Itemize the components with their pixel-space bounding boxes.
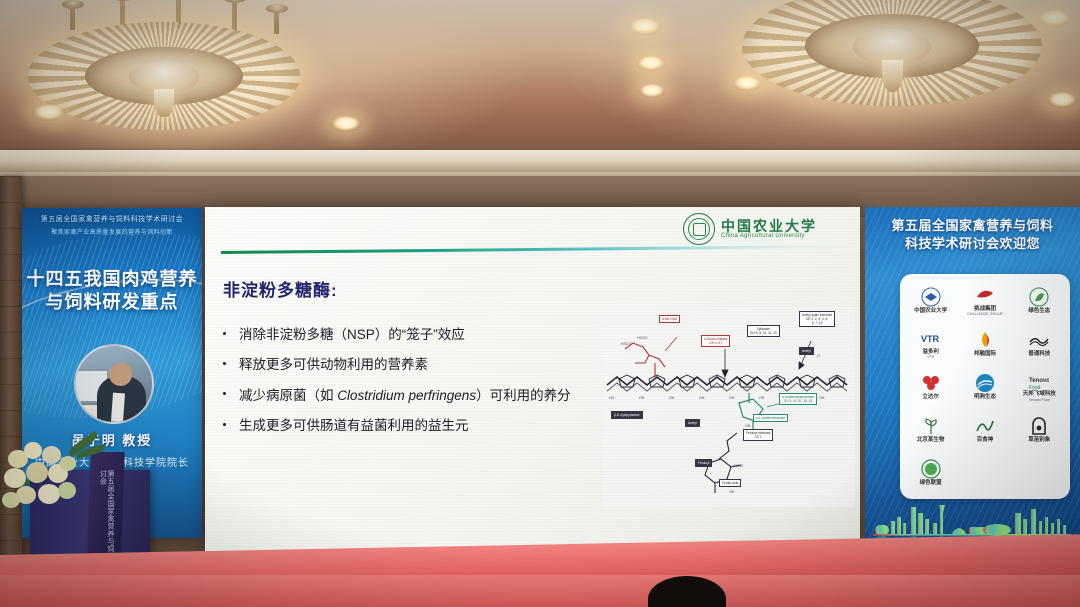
svg-text:VTR: VTR — [921, 334, 940, 344]
eagle-seal-icon — [921, 287, 941, 307]
red-clover-icon — [921, 373, 941, 393]
vtr-icon: VTR — [921, 328, 941, 348]
left-banner-title: 十四五我国肉鸡营养 与饲料研发重点 — [22, 268, 202, 314]
sponsor-name-cn: 普通科技 — [1028, 351, 1050, 357]
sponsor-name-cn: 明驹生态 — [974, 394, 996, 400]
downlight — [638, 84, 666, 98]
sponsor-name-cn: 绿色联盟 — [920, 480, 942, 486]
svg-text:HO: HO — [609, 396, 615, 400]
downlight — [628, 18, 662, 35]
svg-text:OH: OH — [639, 396, 645, 400]
svg-text:OH: OH — [669, 396, 675, 400]
sponsor-logo: 普通科技 — [1014, 324, 1064, 364]
tenovo-icon: TenovoFood — [1029, 370, 1049, 390]
wave-icon — [1029, 330, 1049, 350]
downlight — [32, 104, 66, 121]
svg-text:OH: OH — [819, 396, 825, 400]
sponsor-name-cn: 溢多利 — [922, 349, 939, 355]
downlight — [1046, 92, 1078, 108]
right-banner-title: 第五届全国家禽营养与饲料 科技学术研讨会欢迎您 — [865, 217, 1080, 252]
sponsor-logo-grid: 中国农业大学挑战集团CHALLENGE GROUP绿色生态VTR溢多利VTR邦融… — [900, 274, 1070, 499]
sponsor-name-cn: 草苗别象 — [1028, 437, 1050, 443]
sponsor-logo: VTR溢多利VTR — [906, 324, 956, 364]
sponsor-logo: 绿色联盟 — [906, 452, 956, 492]
svg-text:Tenovo: Tenovo — [1029, 378, 1049, 384]
diagram-label: Acetyl — [685, 419, 700, 427]
left-banner-title-line-1: 十四五我国肉鸡营养 — [22, 268, 202, 291]
bullet-dot — [223, 332, 226, 335]
svg-text:OH: OH — [729, 490, 735, 494]
right-banner-title-line-1: 第五届全国家禽营养与饲料 — [865, 217, 1080, 235]
sponsor-logo: 北京某生物 — [906, 409, 956, 449]
sponsor-name-cn: 绿色生态 — [1028, 308, 1050, 314]
diagram-label: Feruloyl — [695, 459, 712, 467]
sponsor-name-cn: 百食神 — [977, 437, 994, 443]
droplet-icon — [975, 330, 995, 350]
sponsor-name-en: VTR — [927, 356, 934, 360]
slide-bullet-list: 消除非淀粉多糖（NSP）的“笼子”效应释放更多可供动物利用的营养素减少病原菌（如… — [219, 322, 599, 443]
sponsor-logo: 立达尔 — [906, 366, 956, 406]
sponsor-logo: 明驹生态 — [960, 366, 1010, 406]
slide-bullet: 减少病原菌（如 Clostridium perfringens）可利用的养分 — [219, 383, 599, 409]
sponsor-logo: 百食神 — [960, 409, 1010, 449]
bullet-dot — [223, 362, 226, 365]
university-seal-icon — [683, 213, 715, 245]
slide-bullet: 释放更多可供动物利用的营养素 — [219, 352, 599, 378]
sprout-icon — [921, 416, 941, 436]
downlight — [636, 56, 666, 71]
diagram-label: α-ArabinofuranosidaseGH 3, 43, 51, 54, 6… — [779, 393, 817, 405]
svg-text:HOOC: HOOC — [637, 336, 648, 340]
glucuronoarabinoxylan-diagram: HOOH OHOH OHOH OHOH H3COHOOC OHOH OCH3O … — [603, 307, 855, 507]
left-banner-title-line-2: 与饲料研发重点 — [22, 291, 202, 314]
slide-divider — [221, 245, 849, 254]
sponsor-name-cn: 天邦飞域科技 — [1023, 391, 1056, 397]
sponsor-logo: 绿色生态 — [1014, 281, 1064, 321]
challenge-icon — [975, 285, 995, 305]
sponsor-logo: 邦融国际 — [960, 324, 1010, 364]
bullet-dot — [223, 423, 226, 426]
slide-title: 非淀粉多糖酶: — [223, 276, 338, 301]
university-name-en: China Agricultural University — [721, 233, 817, 239]
sponsor-name-cn: 邦融国际 — [974, 351, 996, 357]
left-banner-subhead-2: 聚焦家禽产业高质量发展的营养与饲料创新 — [22, 227, 202, 236]
sponsor-name-cn: 北京某生物 — [917, 437, 945, 443]
leaf-seal-icon — [1029, 287, 1049, 307]
conference-hall-photo: 第五届全国家禽营养与饲料科技学术研讨会 聚焦家禽产业高质量发展的营养与饲料创新 … — [0, 0, 1080, 607]
downlight — [330, 116, 362, 132]
sponsor-logo: 挑战集团CHALLENGE GROUP — [960, 281, 1010, 321]
university-logo: 中国农业大学 China Agricultural University — [683, 211, 855, 247]
left-banner-subhead-1: 第五届全国家禽营养与饲料科技学术研讨会 — [22, 214, 202, 224]
svg-text:O: O — [817, 354, 820, 358]
diagram-label: Ferulic acid — [719, 479, 741, 487]
bullet-dot — [223, 392, 226, 395]
university-name-cn: 中国农业大学 — [721, 219, 817, 234]
flower-arrangement — [2, 438, 114, 520]
svg-text:OH: OH — [699, 396, 705, 400]
sponsor-name-cn: 中国农业大学 — [914, 308, 947, 314]
svg-text:OCH3: OCH3 — [733, 464, 743, 468]
chandelier-right — [742, 0, 1042, 106]
svg-text:OH: OH — [759, 396, 765, 400]
sponsor-name-en: CHALLENGE GROUP — [967, 313, 1003, 317]
sponsor-logo: 草苗别象 — [1014, 409, 1064, 449]
slide-bullet: 生成更多可供肠道有益菌利用的益生元 — [219, 413, 599, 439]
right-banner-title-line-2: 科技学术研讨会欢迎您 — [865, 235, 1080, 253]
slide-bullet: 消除非淀粉多糖（NSP）的“笼子”效应 — [219, 322, 599, 348]
svg-text:OH: OH — [745, 424, 751, 428]
chandelier-left — [28, 22, 300, 130]
diagram-label: α-GlucuronidaseGH 4, 67 — [701, 335, 730, 347]
downlight — [1036, 10, 1072, 27]
red-carpet-lower — [0, 575, 1080, 607]
sponsor-name-en: Tenovo Food — [1029, 399, 1050, 403]
wood-column — [0, 176, 22, 607]
right-banner: 第五届全国家禽营养与饲料 科技学术研讨会欢迎您 中国农业大学挑战集团CHALLE… — [865, 207, 1080, 587]
diagram-label: Feruloyl esteraseCE 1 — [743, 429, 773, 441]
speaker-portrait — [74, 344, 154, 424]
brush-icon — [975, 416, 995, 436]
sponsor-name-cn: 立达尔 — [922, 394, 939, 400]
diagram-label: α-Me-GlcA — [659, 315, 680, 323]
svg-text:OH: OH — [729, 396, 735, 400]
arch-icon — [1029, 416, 1049, 436]
downlight — [732, 76, 762, 91]
blue-wave-icon — [975, 373, 995, 393]
sponsor-logo: TenovoFood天邦飞域科技Tenovo Food — [1014, 366, 1064, 406]
svg-text:H3CO: H3CO — [621, 342, 631, 346]
diagram-label: β-D-Xylopyranose — [611, 411, 643, 419]
green-circle-icon — [921, 459, 941, 479]
sponsor-logo: 中国农业大学 — [906, 281, 956, 321]
svg-text:Food: Food — [1029, 385, 1041, 390]
projection-slide: 中国农业大学 China Agricultural University 非淀粉… — [205, 207, 860, 557]
diagram-label: α-L-Arabinofuranose — [753, 414, 788, 422]
diagram-label: XylanaseGH 5, 8, 10, 11, 43 — [747, 325, 780, 337]
diagram-label: Acetyl xylan esteraseCE 1, 2, 3, 4, 5,6,… — [799, 311, 835, 327]
diagram-label: Acetyl — [799, 347, 814, 355]
